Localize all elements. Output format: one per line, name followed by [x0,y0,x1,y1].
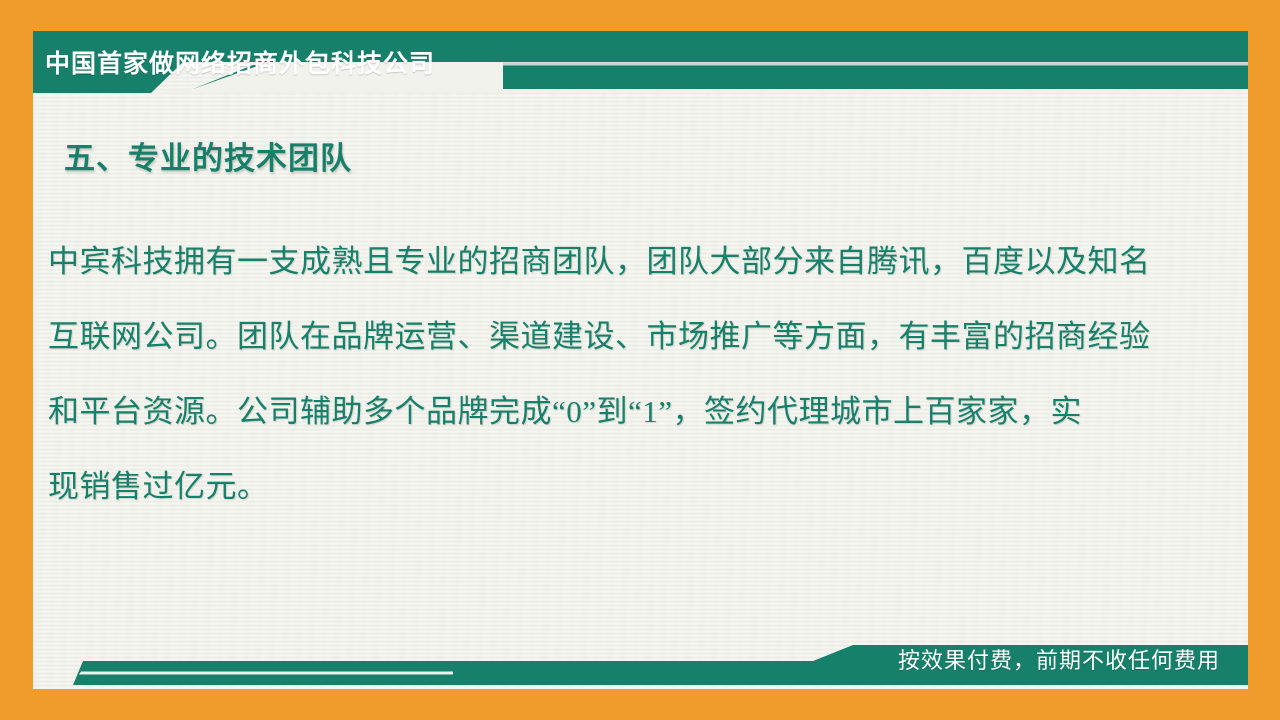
paragraph-line: 互联网公司。团队在品牌运营、渠道建设、市场推广等方面，有丰富的招商经验 [48,299,1188,374]
paragraph-line: 和平台资源。公司辅助多个品牌完成“0”到“1”，签约代理城市上百家家，实 [48,374,1188,449]
footer-note: 按效果付费，前期不收任何费用 [898,643,1220,675]
footer-banner: 按效果付费，前期不收任何费用 [33,627,1248,689]
body-paragraph: 中宾科技拥有一支成熟且专业的招商团队，团队大部分来自腾讯，百度以及知名 互联网公… [48,224,1188,524]
slide-root: 中国首家做网络招商外包科技公司 五、专业的技术团队 中宾科技拥有一支成熟且专业的… [0,0,1280,720]
paragraph-line: 中宾科技拥有一支成熟且专业的招商团队，团队大部分来自腾讯，百度以及知名 [48,224,1188,299]
header-banner: 中国首家做网络招商外包科技公司 [33,31,1248,93]
footer-separator-line [79,672,453,675]
paragraph-line: 现销售过亿元。 [48,449,1188,524]
page-title: 五、专业的技术团队 [64,133,352,178]
header-banner-title: 中国首家做网络招商外包科技公司 [45,43,515,81]
